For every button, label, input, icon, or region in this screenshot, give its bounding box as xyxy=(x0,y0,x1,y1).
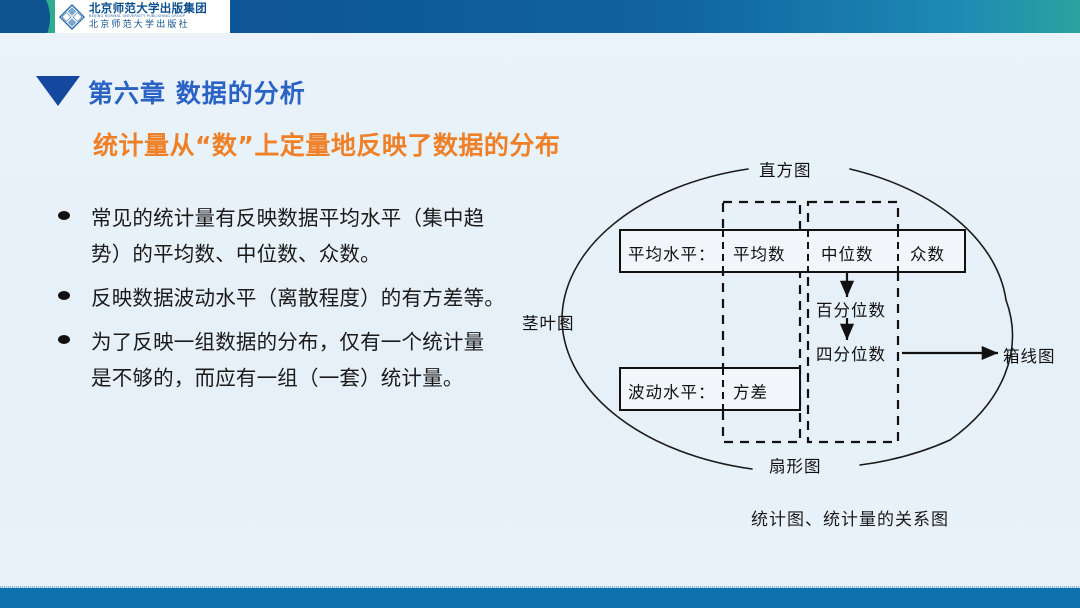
ellipse-arc-bottom-right xyxy=(860,440,950,465)
bullet-dot-icon xyxy=(58,335,70,344)
average-cell-mode: 众数 xyxy=(910,241,945,265)
list-item: 反映数据波动水平（离散程度）的有方差等。 xyxy=(58,280,558,316)
chain-label-percentile: 百分位数 xyxy=(816,297,886,321)
bullet-dot-icon xyxy=(58,211,70,220)
diagram-caption: 统计图、统计量的关系图 xyxy=(690,505,1010,530)
slide: 北京师范大学出版集团 BEIJING NORMAL UNIVERSITY PUB… xyxy=(0,0,1080,608)
ellipse-arc-right xyxy=(950,300,1012,440)
chain-label-quartile: 四分位数 xyxy=(816,341,886,365)
ellipse-label-right: 箱线图 xyxy=(1003,343,1056,367)
blue-curve-accent xyxy=(0,0,50,33)
top-banner: 北京师范大学出版集团 BEIJING NORMAL UNIVERSITY PUB… xyxy=(0,0,1080,33)
logo-chinese-secondary: 北京师范大学出版社 xyxy=(89,21,207,30)
diagram-svg xyxy=(520,140,1080,540)
logo-chinese-primary: 北京师范大学出版集团 xyxy=(89,3,207,15)
variation-cell-variance: 方差 xyxy=(733,379,768,403)
bullet-list: 常见的统计量有反映数据平均水平（集中趋势）的平均数、中位数、众数。 反映数据波动… xyxy=(58,200,558,404)
ellipse-label-bottom: 扇形图 xyxy=(769,453,822,477)
ellipse-label-left: 茎叶图 xyxy=(522,310,575,334)
triangle-bullet-icon xyxy=(36,76,80,106)
page-subtitle: 统计量从“数”上定量地反映了数据的分布 xyxy=(93,126,560,162)
bullet-text: 反映数据波动水平（离散程度）的有方差等。 xyxy=(91,280,505,316)
logo-english: BEIJING NORMAL UNIVERSITY PUBLISHING GRO… xyxy=(89,15,207,19)
average-level-prefix: 平均水平： xyxy=(628,241,716,265)
bullet-dot-icon xyxy=(58,291,70,300)
average-cell-mean: 平均数 xyxy=(733,241,786,265)
variation-level-prefix: 波动水平： xyxy=(628,379,716,403)
bottom-bar xyxy=(0,588,1080,608)
average-cell-median: 中位数 xyxy=(821,241,874,265)
page-title: 第六章 数据的分析 xyxy=(88,74,306,110)
bullet-text: 常见的统计量有反映数据平均水平（集中趋势）的平均数、中位数、众数。 xyxy=(91,200,484,272)
list-item: 为了反映一组数据的分布，仅有一个统计量是不够的，而应有一组（一套）统计量。 xyxy=(58,324,558,396)
list-item: 常见的统计量有反映数据平均水平（集中趋势）的平均数、中位数、众数。 xyxy=(58,200,558,272)
bullet-text: 为了反映一组数据的分布，仅有一个统计量是不够的，而应有一组（一套）统计量。 xyxy=(91,324,484,396)
ellipse-label-top: 直方图 xyxy=(759,157,812,181)
relationship-diagram: 直方图 扇形图 茎叶图 箱线图 平均水平： 平均数 中位数 众数 波动水平： 方… xyxy=(520,140,1080,540)
logo-wordmark: 北京师范大学出版集团 BEIJING NORMAL UNIVERSITY PUB… xyxy=(89,3,207,30)
publisher-logo: 北京师范大学出版集团 BEIJING NORMAL UNIVERSITY PUB… xyxy=(55,0,230,33)
diamond-logo-icon xyxy=(59,4,85,30)
